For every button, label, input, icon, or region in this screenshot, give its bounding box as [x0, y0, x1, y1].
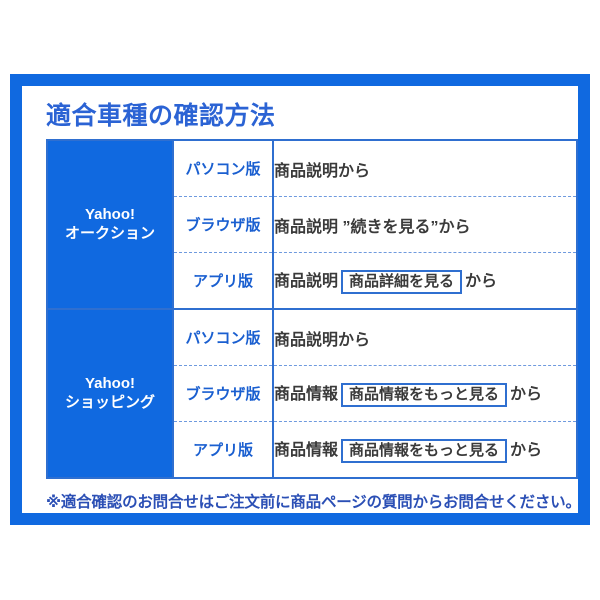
platform-label-app: アプリ版 [173, 422, 273, 479]
platform-label-app: アプリ版 [173, 253, 273, 310]
ui-button-chip: 商品情報をもっと見る [341, 439, 507, 463]
instruction-text-suffix: から [510, 386, 542, 403]
brand-cell-auction: Yahoo! オークション [47, 140, 173, 309]
brand-service: オークション [48, 225, 172, 244]
instruction-cell: 商品説明 ”続きを見る”から [273, 197, 577, 253]
platform-label-browser: ブラウザ版 [173, 366, 273, 422]
instruction-text-suffix: から [510, 442, 542, 459]
brand-name: Yahoo! [48, 206, 172, 225]
brand-service: ショッピング [48, 394, 172, 413]
table-row: Yahoo! オークション パソコン版 商品説明から [47, 140, 577, 197]
ui-button-chip: 商品情報をもっと見る [341, 383, 507, 407]
instruction-cell: 商品情報商品情報をもっと見るから [273, 366, 577, 422]
info-panel-inner: 適合車種の確認方法 Yahoo! オークション パソコン版 商品説明から [22, 86, 578, 513]
platform-label-browser: ブラウザ版 [173, 197, 273, 253]
page-title: 適合車種の確認方法 [46, 104, 560, 129]
instruction-cell: 商品説明から [273, 309, 577, 366]
instruction-cell: 商品情報商品情報をもっと見るから [273, 422, 577, 479]
compatibility-table: Yahoo! オークション パソコン版 商品説明から ブラウザ版 商品説明 ”続… [46, 139, 578, 479]
instruction-text: 商品説明 [274, 273, 338, 290]
instruction-cell: 商品説明から [273, 140, 577, 197]
instruction-text: 商品説明から [274, 163, 370, 180]
footer-note: ※適合確認のお問合せはご注文前に商品ページの質問からお問合せください。 [46, 490, 560, 512]
brand-name: Yahoo! [48, 375, 172, 394]
instruction-text: 商品説明 ”続きを見る”から [274, 219, 470, 236]
platform-label-pc: パソコン版 [173, 140, 273, 197]
instruction-text: 商品情報 [274, 442, 338, 459]
table-row: Yahoo! ショッピング パソコン版 商品説明から [47, 309, 577, 366]
info-panel: 適合車種の確認方法 Yahoo! オークション パソコン版 商品説明から [10, 74, 590, 525]
instruction-text-suffix: から [465, 273, 497, 290]
brand-cell-shopping: Yahoo! ショッピング [47, 309, 173, 478]
ui-button-chip: 商品詳細を見る [341, 270, 462, 294]
instruction-text: 商品説明から [274, 332, 370, 349]
platform-label-pc: パソコン版 [173, 309, 273, 366]
instruction-cell: 商品説明商品詳細を見るから [273, 253, 577, 310]
image-canvas: 適合車種の確認方法 Yahoo! オークション パソコン版 商品説明から [0, 0, 600, 600]
instruction-text: 商品情報 [274, 386, 338, 403]
